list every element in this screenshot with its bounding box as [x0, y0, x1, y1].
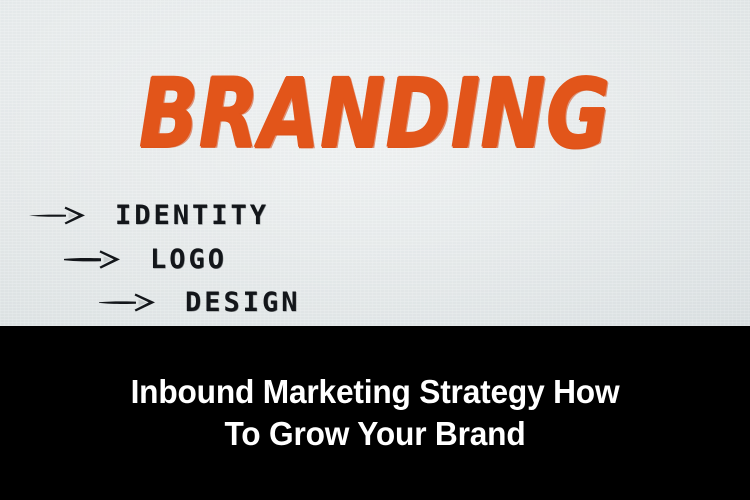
whiteboard-photo: BRANDING IDENTITY LOGO [0, 0, 750, 326]
list-item: LOGO [63, 242, 227, 276]
caption-title: Inbound Marketing Strategy How To Grow Y… [68, 371, 682, 455]
caption-line-1: Inbound Marketing Strategy How [131, 373, 620, 410]
caption-line-2: To Grow Your Brand [224, 415, 525, 452]
caption-bar: Inbound Marketing Strategy How To Grow Y… [0, 326, 750, 500]
featured-image-card: BRANDING IDENTITY LOGO [0, 0, 750, 500]
list-item: IDENTITY [28, 198, 269, 232]
list-item: DESIGN [98, 285, 301, 319]
arrow-right-icon [63, 244, 125, 274]
list-item-label: IDENTITY [115, 202, 269, 229]
arrow-right-icon [98, 287, 160, 317]
arrow-right-icon [28, 200, 90, 230]
branding-headline: BRANDING [4, 67, 747, 162]
list-item-label: DESIGN [185, 289, 301, 316]
list-item-label: LOGO [150, 246, 227, 273]
